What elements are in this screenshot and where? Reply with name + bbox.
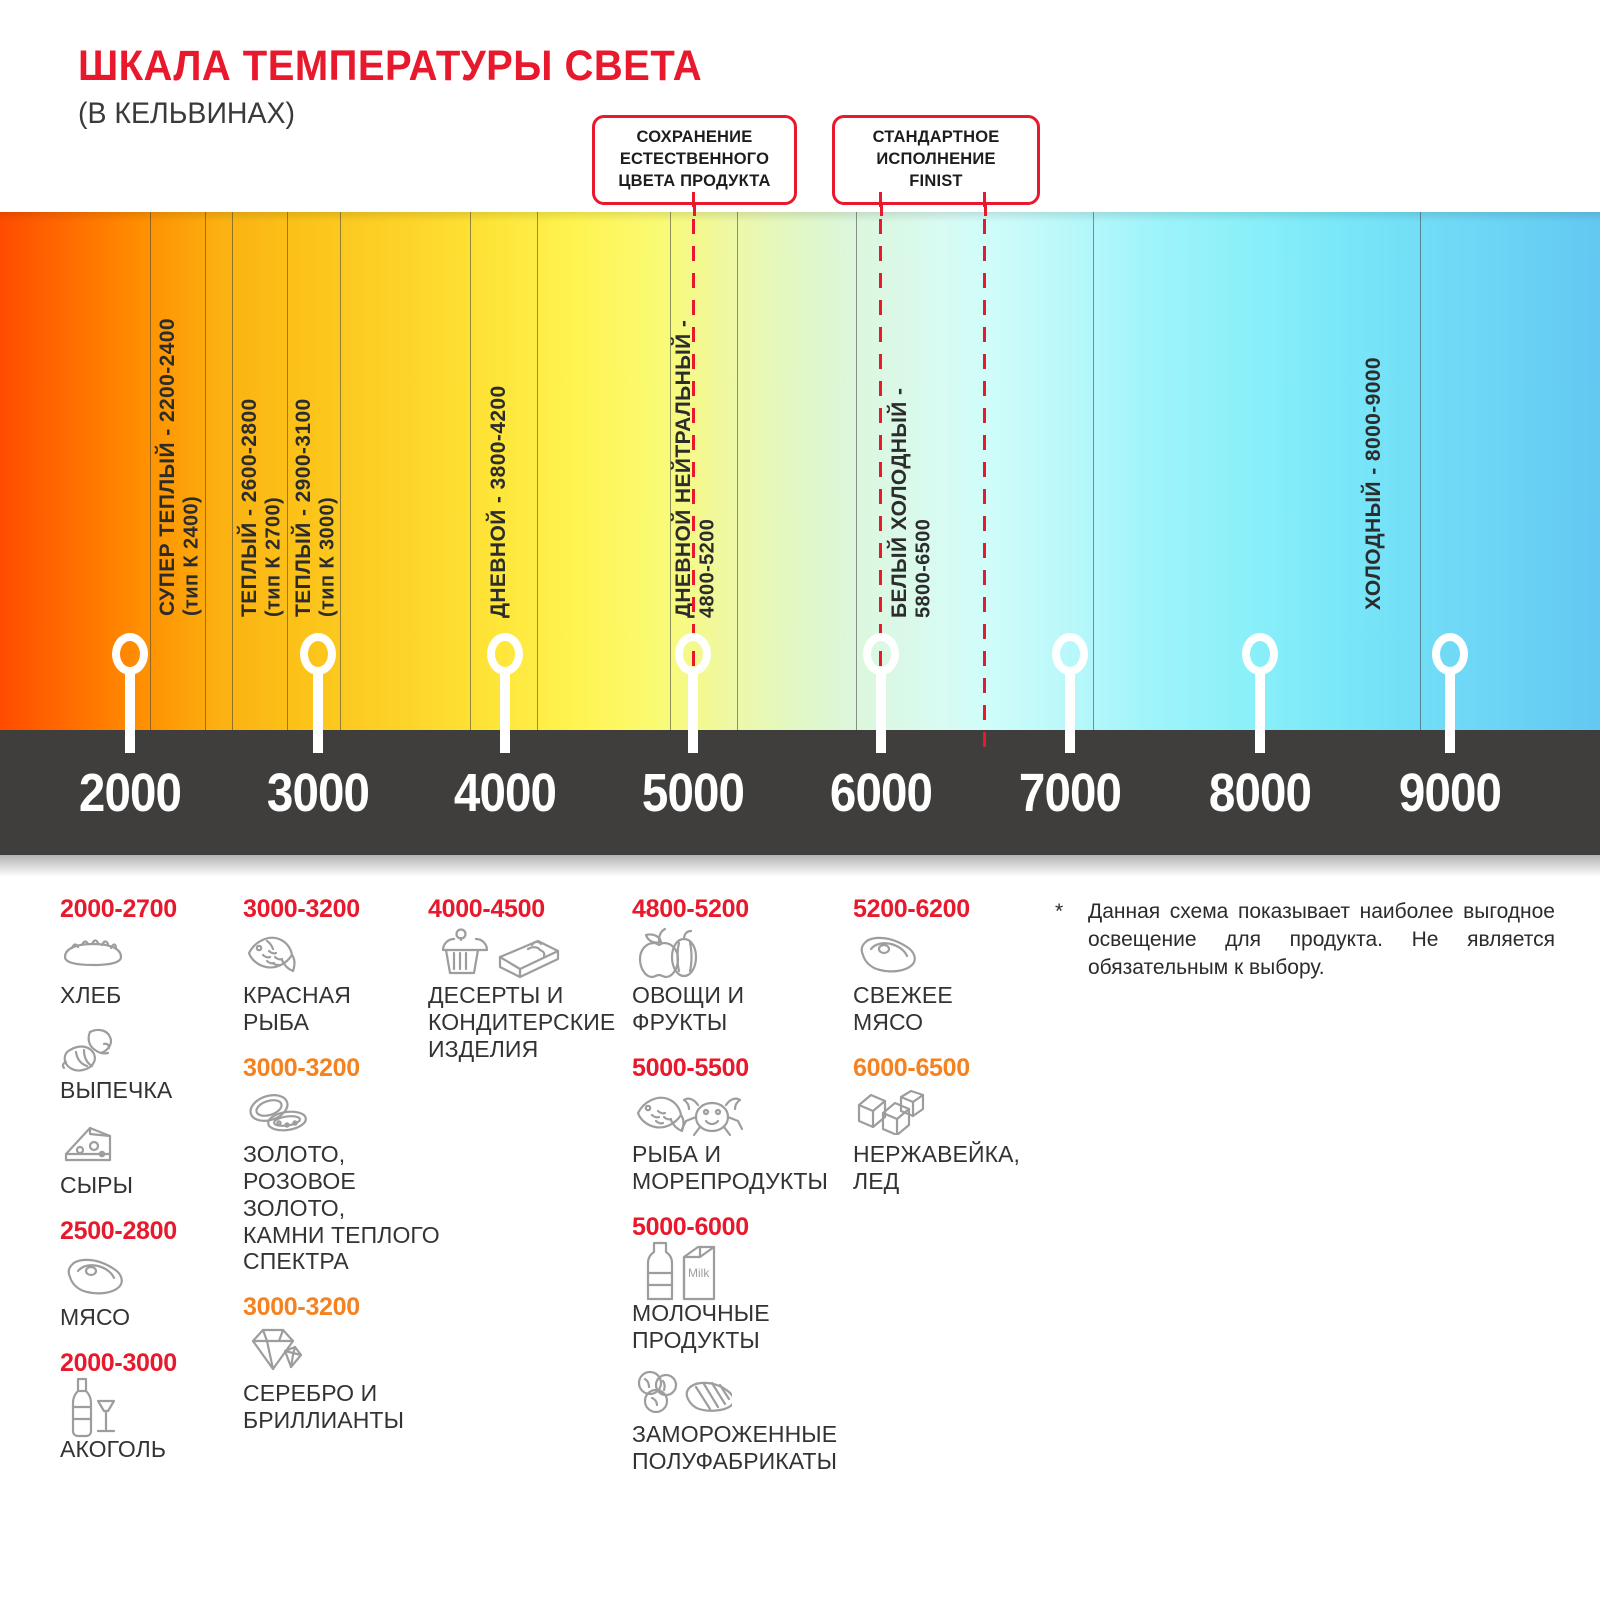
- legend-range-label: 2000-2700: [60, 895, 245, 924]
- legend-range-label: 6000-6500: [853, 1054, 1043, 1083]
- legend-item-label: ХЛЕБ: [60, 982, 245, 1009]
- band-divider: [1093, 212, 1094, 730]
- footnote-star: *: [1055, 898, 1063, 926]
- page-title: ШКАЛА ТЕМПЕРАТУРЫ СВЕТА: [78, 42, 702, 91]
- meat-icon: [60, 1246, 245, 1304]
- legend-group: 6000-6500НЕРЖАВЕЙКА, ЛЕД: [853, 1054, 1043, 1195]
- band-label-super-warm: СУПЕР ТЕПЛЫЙ - 2200-2400(тип К 2400): [156, 248, 203, 616]
- infographic-root: ШКАЛА ТЕМПЕРАТУРЫ СВЕТА (В КЕЛЬВИНАХ) СУ…: [0, 0, 1600, 1600]
- legend-item-label: ДЕСЕРТЫ И КОНДИТЕРСКИЕ ИЗДЕЛИЯ: [428, 982, 628, 1063]
- scale-number: 6000: [802, 762, 960, 824]
- legend-range-label: 3000-3200: [243, 895, 443, 924]
- legend-group: 5000-6000MilkМОЛОЧНЫЕ ПРОДУКТЫЗАМОРОЖЕНН…: [632, 1213, 847, 1476]
- legend-group: 5000-5500РЫБА И МОРЕПРОДУКТЫ: [632, 1054, 847, 1195]
- band-label-daylight-neutral: ДНЕВНОЙ НЕЙТРАЛЬНЫЙ -4800-5200: [672, 248, 719, 618]
- band-divider: [340, 212, 341, 730]
- legend-item-label: ОВОЩИ И ФРУКТЫ: [632, 982, 847, 1036]
- legend-group: 5200-6200СВЕЖЕЕ МЯСО: [853, 895, 1043, 1036]
- legend-range-label: 4800-5200: [632, 895, 847, 924]
- legend-column-1: 2000-2700ХЛЕБВЫПЕЧКАСЫРЫ2500-2800МЯСО200…: [60, 895, 245, 1481]
- legend-column-4: 4800-5200ОВОЩИ И ФРУКТЫ5000-5500РЫБА И М…: [632, 895, 847, 1493]
- legend-item-label: ЗОЛОТО, РОЗОВОЕ ЗОЛОТО, КАМНИ ТЕПЛОГО СП…: [243, 1141, 443, 1276]
- svg-text:Milk: Milk: [688, 1266, 710, 1280]
- legend-item-label: МОЛОЧНЫЕ ПРОДУКТЫ: [632, 1300, 847, 1354]
- legend-group: 3000-3200СЕРЕБРО И БРИЛЛИАНТЫ: [243, 1293, 443, 1434]
- pastry-icon: [60, 1019, 245, 1077]
- band-label-cold: ХОЛОДНЫЙ - 8000-9000: [1362, 310, 1386, 610]
- fresh-meat-icon: [853, 924, 1043, 982]
- callout-natural-color-text: СОХРАНЕНИЕ ЕСТЕСТВЕННОГО ЦВЕТА ПРОДУКТА: [618, 128, 770, 190]
- footnote: * Данная схема показывает наиболее выгод…: [1055, 898, 1555, 982]
- legend-item-label: СВЕЖЕЕ МЯСО: [853, 982, 1043, 1036]
- legend-range-label: 2500-2800: [60, 1217, 245, 1246]
- legend-item-label: СЫРЫ: [60, 1172, 245, 1199]
- band-divider: [1420, 212, 1421, 730]
- band-label-warm-2700: ТЕПЛЫЙ - 2600-2800(тип К 2700): [238, 345, 285, 617]
- guide-dashline-6500: [983, 192, 986, 752]
- legend-group: 3000-3200КРАСНАЯ РЫБА: [243, 895, 443, 1036]
- legend-group: 2000-2700ХЛЕБВЫПЕЧКАСЫРЫ: [60, 895, 245, 1199]
- footnote-text: Данная схема показывает наиболее выгодно…: [1088, 898, 1555, 982]
- scale-number: 5000: [614, 762, 772, 824]
- legend-group: 4000-4500ДЕСЕРТЫ И КОНДИТЕРСКИЕ ИЗДЕЛИЯ: [428, 895, 628, 1063]
- strip-top-shade: [0, 212, 1600, 222]
- dairy-icon: Milk: [632, 1242, 847, 1300]
- legend-group: 2500-2800МЯСО: [60, 1217, 245, 1331]
- callout-standard-finist-text: СТАНДАРТНОЕ ИСПОЛНЕНИЕ FINIST: [873, 128, 1000, 190]
- legend-item-label: МЯСО: [60, 1304, 245, 1331]
- legend-column-3: 4000-4500ДЕСЕРТЫ И КОНДИТЕРСКИЕ ИЗДЕЛИЯ: [428, 895, 628, 1081]
- legend-range-label: 4000-4500: [428, 895, 628, 924]
- frozen-food-icon: [632, 1363, 847, 1421]
- scale-number: 2000: [51, 762, 209, 824]
- scale-number: 4000: [426, 762, 584, 824]
- scale-bar-shadow: [0, 855, 1600, 877]
- legend-item-label: ВЫПЕЧКА: [60, 1077, 245, 1104]
- legend-item-label: СЕРЕБРО И БРИЛЛИАНТЫ: [243, 1380, 443, 1434]
- bread-icon: [60, 924, 245, 982]
- band-divider: [670, 212, 671, 730]
- scale-number: 7000: [991, 762, 1149, 824]
- dessert-icon: [428, 924, 628, 982]
- scale-number: 8000: [1181, 762, 1339, 824]
- legend-range-label: 3000-3200: [243, 1293, 443, 1322]
- band-divider: [537, 212, 538, 730]
- band-divider: [287, 212, 288, 730]
- scale-number: 3000: [239, 762, 397, 824]
- fruits-vegetables-icon: [632, 924, 847, 982]
- legend-group: 2000-3000АКОГОЛЬ: [60, 1349, 245, 1463]
- band-divider: [737, 212, 738, 730]
- band-label-cold-white: БЕЛЫЙ ХОЛОДНЫЙ -5800-6500: [888, 320, 935, 618]
- cheese-icon: [60, 1114, 245, 1172]
- band-divider: [150, 212, 151, 730]
- band-label-warm-3000: ТЕПЛЫЙ - 2900-3100(тип К 3000): [292, 345, 339, 617]
- legend-range-label: 3000-3200: [243, 1054, 443, 1083]
- page-subtitle: (В КЕЛЬВИНАХ): [78, 97, 295, 131]
- scale-number: 9000: [1371, 762, 1529, 824]
- gold-jewelry-icon: [243, 1083, 443, 1141]
- red-fish-icon: [243, 924, 443, 982]
- band-divider: [856, 212, 857, 730]
- ice-cubes-icon: [853, 1083, 1043, 1141]
- band-divider: [232, 212, 233, 730]
- legend-range-label: 2000-3000: [60, 1349, 245, 1378]
- legend-item-label: ЗАМОРОЖЕННЫЕ ПОЛУФАБРИКАТЫ: [632, 1421, 847, 1475]
- legend-group: 4800-5200ОВОЩИ И ФРУКТЫ: [632, 895, 847, 1036]
- diamond-icon: [243, 1322, 443, 1380]
- legend-column-5: 5200-6200СВЕЖЕЕ МЯСО6000-6500НЕРЖАВЕЙКА,…: [853, 895, 1043, 1213]
- legend-item-label: КРАСНАЯ РЫБА: [243, 982, 443, 1036]
- legend-column-2: 3000-3200КРАСНАЯ РЫБА3000-3200ЗОЛОТО, РО…: [243, 895, 443, 1452]
- legend-group: 3000-3200ЗОЛОТО, РОЗОВОЕ ЗОЛОТО, КАМНИ Т…: [243, 1054, 443, 1276]
- seafood-icon: [632, 1083, 847, 1141]
- legend-item-label: РЫБА И МОРЕПРОДУКТЫ: [632, 1141, 847, 1195]
- legend-item-label: АКОГОЛЬ: [60, 1436, 245, 1463]
- alcohol-icon: [60, 1378, 245, 1436]
- callout-standard-finist: СТАНДАРТНОЕ ИСПОЛНЕНИЕ FINIST: [832, 115, 1040, 205]
- band-divider: [470, 212, 471, 730]
- legend-range-label: 5200-6200: [853, 895, 1043, 924]
- band-divider: [205, 212, 206, 730]
- band-label-daylight: ДНЕВНОЙ - 3800-4200: [487, 330, 511, 618]
- legend-range-label: 5000-5500: [632, 1054, 847, 1083]
- legend-item-label: НЕРЖАВЕЙКА, ЛЕД: [853, 1141, 1043, 1195]
